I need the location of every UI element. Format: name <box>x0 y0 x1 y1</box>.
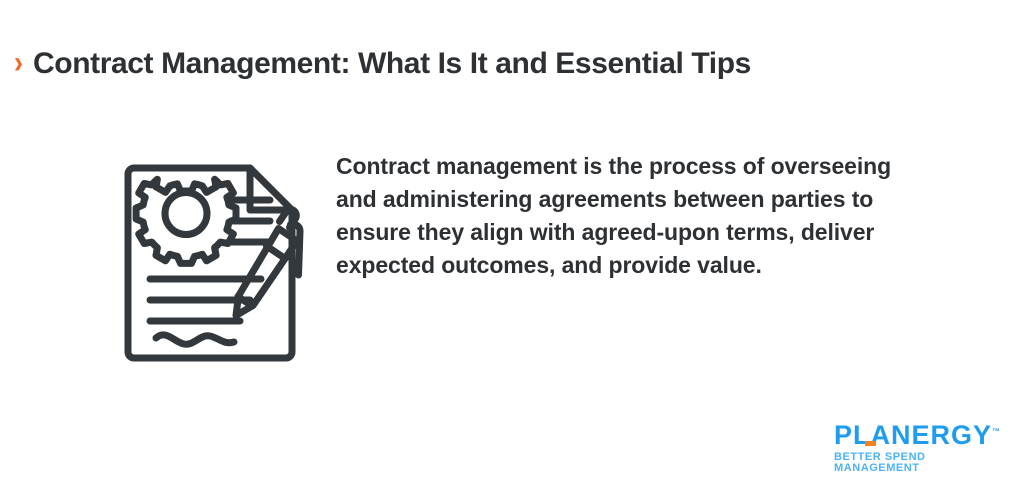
gear-inner-circle <box>165 193 207 235</box>
pen-cap-knob <box>280 210 297 228</box>
definition-text-block: Contract management is the process of ov… <box>336 150 916 282</box>
page-title: Contract Management: What Is It and Esse… <box>33 47 751 80</box>
logo-wordmark-text: PLANERGY <box>834 420 992 450</box>
main-content: Contract management is the process of ov… <box>0 150 1024 373</box>
contract-icon-svg <box>118 158 318 368</box>
logo-wordmark: PLANERGY™ <box>834 422 1006 449</box>
logo-accent-mark <box>865 441 876 446</box>
logo-trademark: ™ <box>992 427 1000 436</box>
page-heading: › Contract Management: What Is It and Es… <box>14 47 751 80</box>
chevron-right-icon: › <box>14 47 23 78</box>
signature-squiggle <box>156 335 234 344</box>
contract-document-gear-pen-icon <box>118 150 318 373</box>
planergy-logo: PLANERGY™ BETTER SPEND MANAGEMENT <box>834 422 1006 474</box>
definition-paragraph: Contract management is the process of ov… <box>336 150 916 282</box>
logo-tagline: BETTER SPEND MANAGEMENT <box>834 452 1006 474</box>
pen-band <box>267 246 286 259</box>
